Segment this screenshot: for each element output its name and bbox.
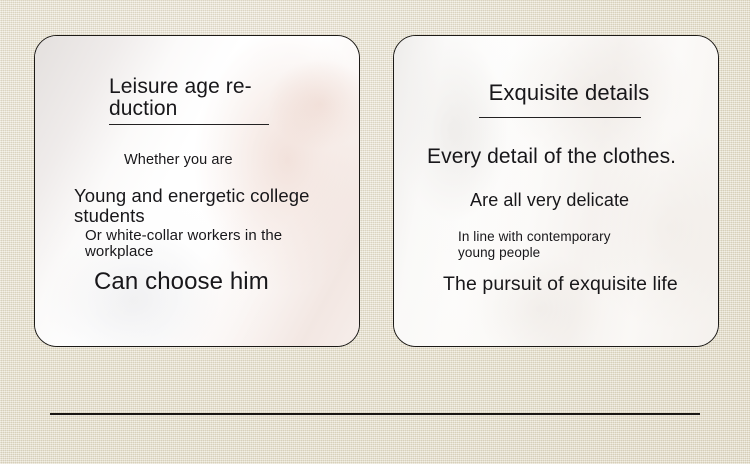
bottom-divider-rule	[50, 413, 700, 415]
card-line-4: Can choose him	[94, 270, 269, 295]
card-line-3: Or white-collar workers in the workplace	[85, 228, 295, 260]
card-leisure-age-reduction: Leisure age re- duction Whether you are …	[34, 35, 360, 347]
card-line-2: Are all very delicate	[470, 191, 629, 210]
title-underline-rule	[109, 124, 269, 125]
card-content: Leisure age re- duction Whether you are …	[35, 36, 359, 346]
card-line-1: Every detail of the clothes.	[427, 146, 676, 168]
card-title: Leisure age re- duction	[109, 76, 281, 120]
card-line-3: In line with contemporary young people	[458, 229, 638, 261]
card-exquisite-details: Exquisite details Every detail of the cl…	[393, 35, 719, 347]
card-title: Exquisite details	[474, 82, 664, 105]
card-line-1: Whether you are	[124, 153, 233, 168]
title-underline-rule	[479, 117, 641, 118]
card-line-4: The pursuit of exquisite life	[443, 274, 678, 294]
poster-canvas: Leisure age re- duction Whether you are …	[0, 0, 750, 464]
card-line-2: Young and energetic college students	[74, 186, 322, 226]
card-content: Exquisite details Every detail of the cl…	[394, 36, 718, 346]
